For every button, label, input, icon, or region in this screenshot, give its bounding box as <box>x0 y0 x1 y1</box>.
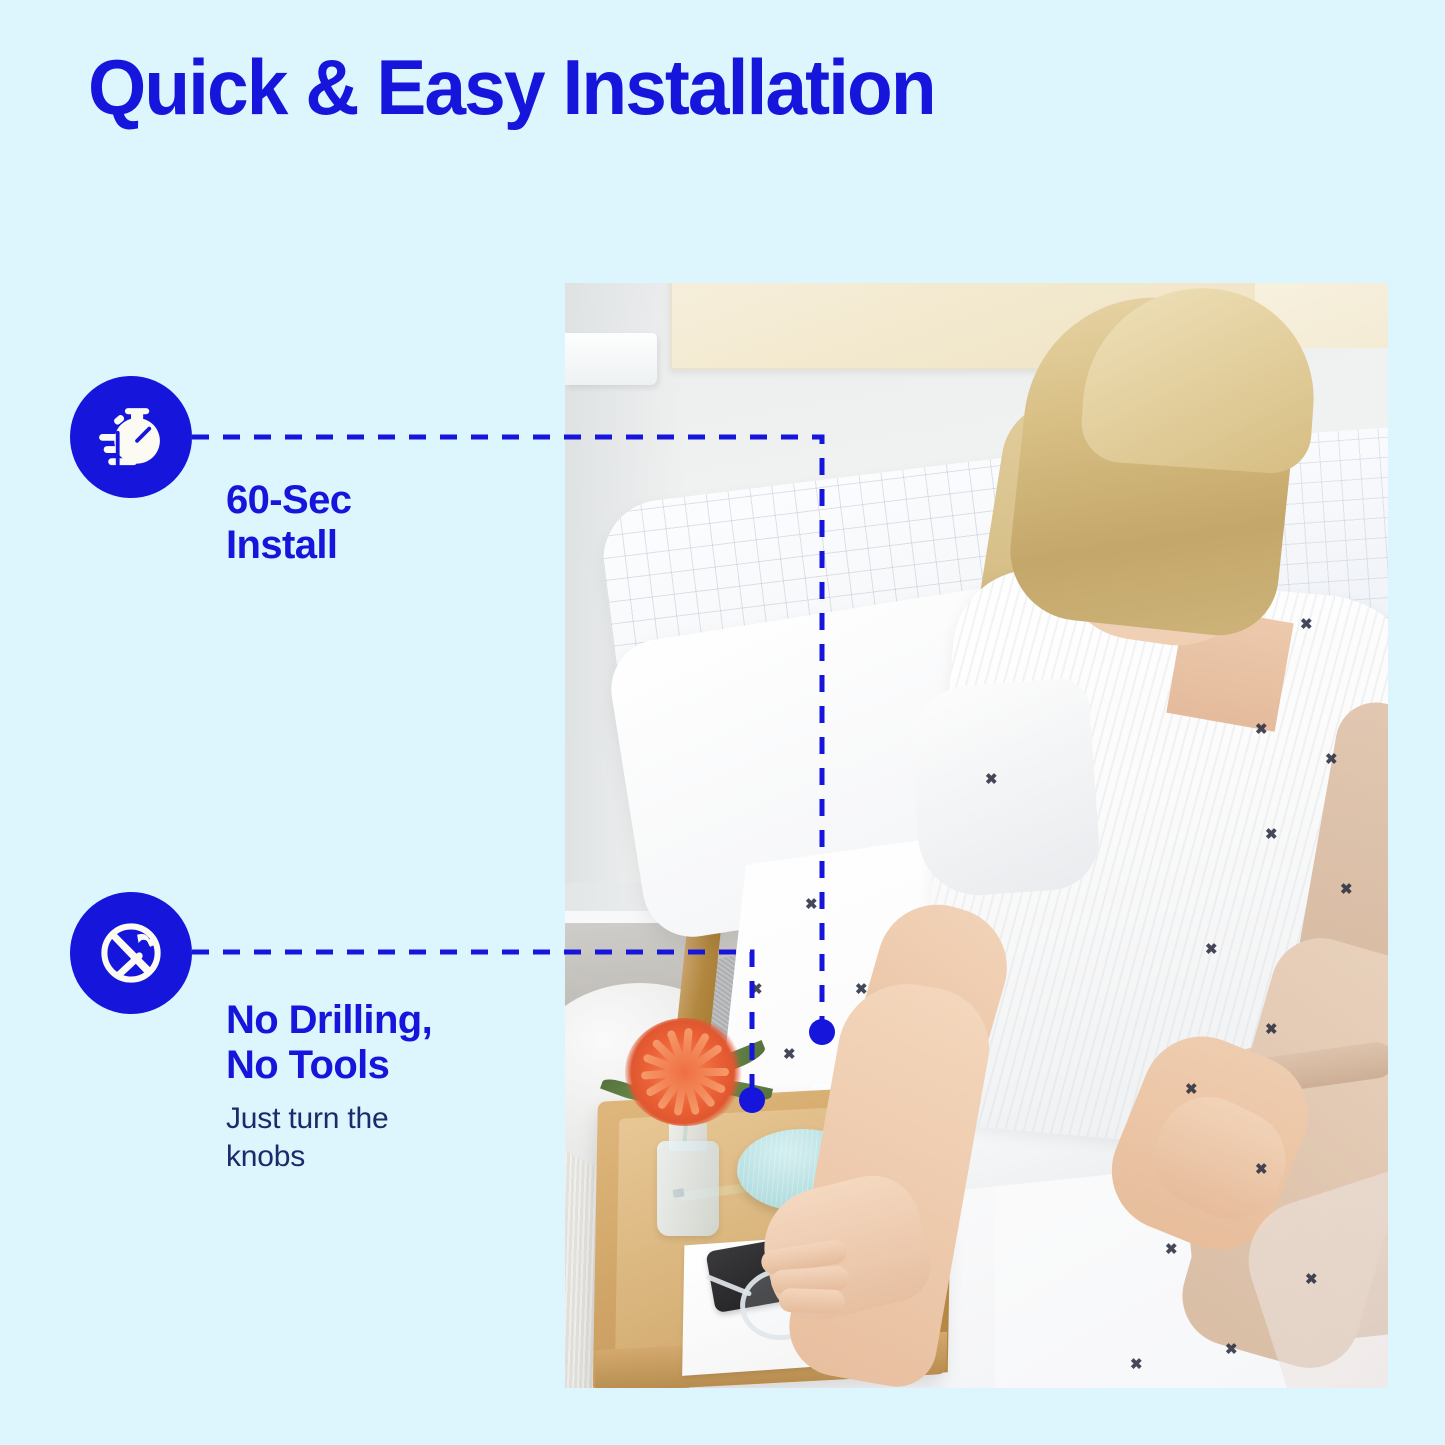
duvet-x-mark <box>1255 1163 1268 1176</box>
callout-2-subtitle-line-1: Just turn the <box>226 1100 389 1138</box>
stopwatch-speed-icon <box>70 376 192 498</box>
duvet-x-mark <box>750 983 763 996</box>
duvet-x-mark <box>783 1048 796 1061</box>
duvet-x-mark <box>1265 1023 1278 1036</box>
page-title: Quick & Easy Installation <box>88 48 935 126</box>
duvet-x-mark <box>805 898 818 911</box>
duvet-x-mark <box>1340 883 1353 896</box>
callout-1-title-line-1: 60-Sec <box>226 478 351 523</box>
glass-vase <box>657 1141 719 1236</box>
duvet-x-mark <box>1300 618 1313 631</box>
duvet-x-mark <box>1255 723 1268 736</box>
duvet-x-mark <box>1265 828 1278 841</box>
product-lifestyle-photo <box>565 283 1388 1388</box>
infographic-root: Quick & Easy Installation <box>0 0 1445 1445</box>
duvet-x-mark <box>1325 753 1338 766</box>
duvet-x-mark <box>1165 1243 1178 1256</box>
callout-1-title-line-2: Install <box>226 523 351 568</box>
callout-2-subtitle: Just turn the knobs <box>226 1100 389 1176</box>
callout-2-title-line-2: No Tools <box>226 1043 432 1088</box>
duvet-x-mark <box>1305 1273 1318 1286</box>
duvet-x-mark <box>1225 1343 1238 1356</box>
duvet-x-mark <box>1185 1083 1198 1096</box>
callout-2-title-line-1: No Drilling, <box>226 998 432 1043</box>
callout-1-title: 60-Sec Install <box>226 478 351 568</box>
tshirt-sleeve <box>908 677 1102 899</box>
finger <box>779 1288 846 1314</box>
orange-pincushion-protea <box>625 1018 745 1126</box>
wall-shelf <box>565 333 657 385</box>
duvet-x-mark <box>985 773 998 786</box>
callout-2-subtitle-line-2: knobs <box>226 1138 389 1176</box>
callout-2-title: No Drilling, No Tools <box>226 998 432 1088</box>
no-tools-icon <box>70 892 192 1014</box>
duvet-x-mark <box>1130 1358 1143 1371</box>
duvet-x-mark <box>1205 943 1218 956</box>
